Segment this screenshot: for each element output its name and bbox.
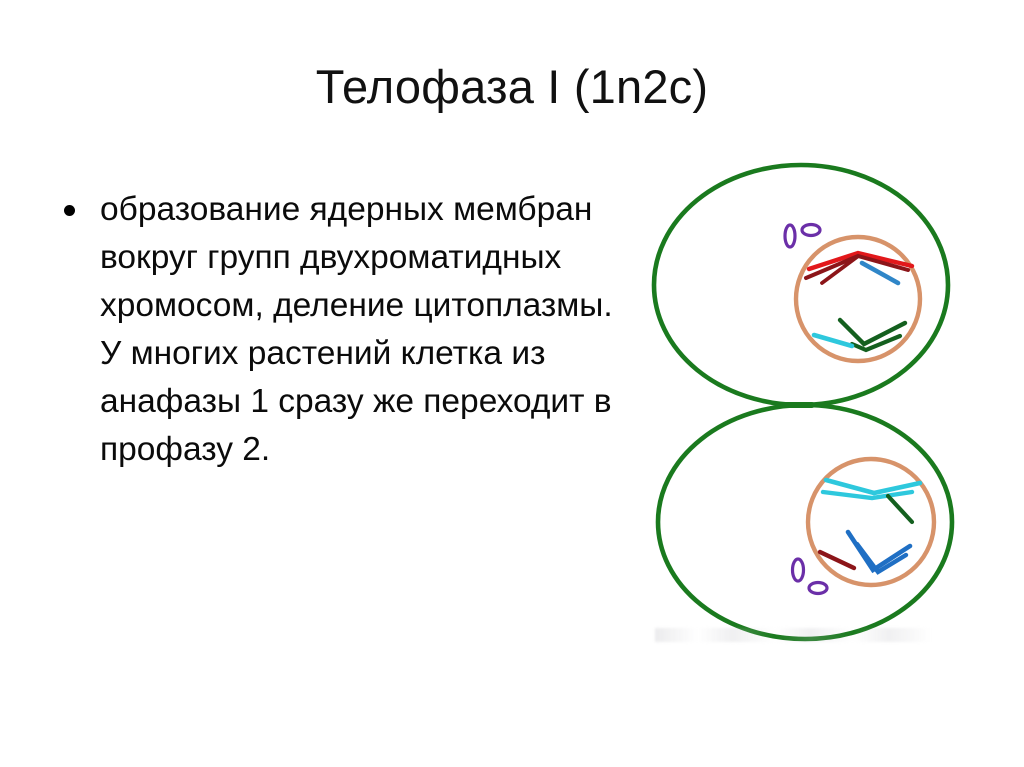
- list-item: образование ядерных мембран вокруг групп…: [54, 186, 614, 474]
- bullet-list: образование ядерных мембран вокруг групп…: [54, 186, 614, 474]
- page-title: Телофаза I (1n2c): [0, 62, 1024, 111]
- upper-daughter-cell: [654, 165, 948, 405]
- slide-canvas: Телофаза I (1n2c) образование ядерных ме…: [0, 0, 1024, 767]
- bullet-dot-icon: [64, 205, 75, 216]
- upper-cell-membrane: [654, 165, 948, 405]
- list-item-label: образование ядерных мембран вокруг групп…: [100, 191, 613, 468]
- lower-cell-membrane: [658, 405, 952, 639]
- lower-daughter-cell: [658, 405, 952, 639]
- cell-division-diagram: [600, 140, 1024, 660]
